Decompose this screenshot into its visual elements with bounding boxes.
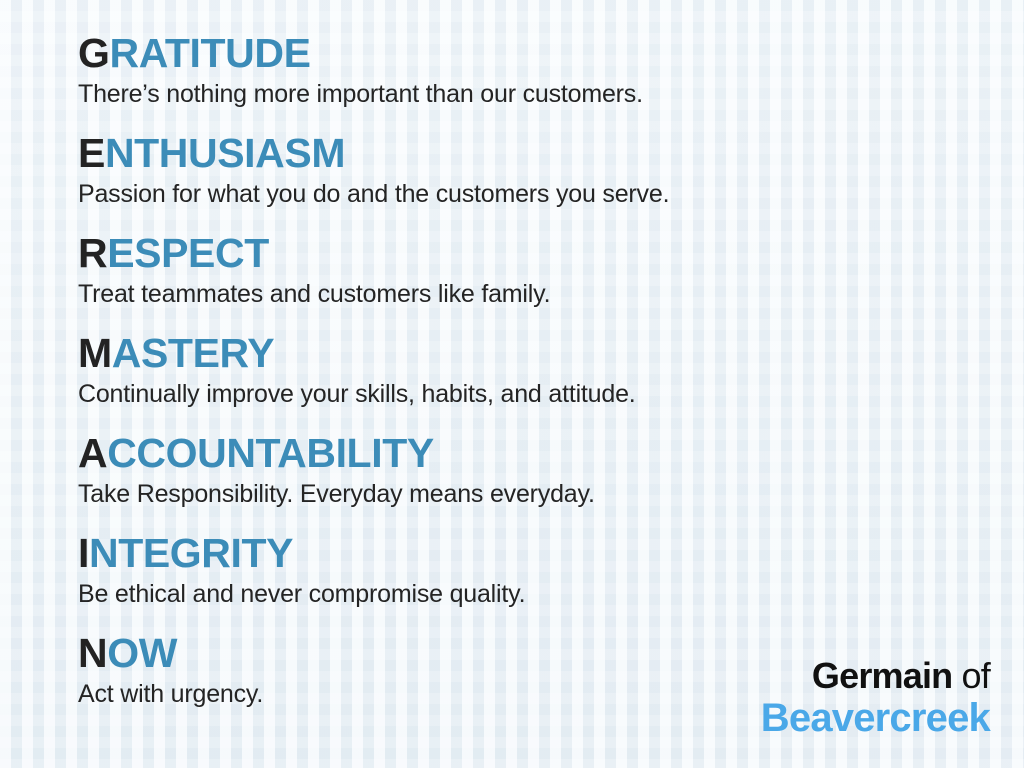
value-block-integrity: INTEGRITY Be ethical and never compromis… [78,530,984,630]
value-initial-letter: M [78,330,112,376]
value-heading-rest: ASTERY [112,330,274,376]
value-heading-gratitude: GRATITUDE [78,30,984,76]
value-block-mastery: MASTERY Continually improve your skills,… [78,330,984,430]
value-heading-rest: NTEGRITY [89,530,293,576]
value-description-enthusiasm: Passion for what you do and the customer… [78,178,984,210]
value-block-enthusiasm: ENTHUSIASM Passion for what you do and t… [78,130,984,230]
brand-logo-connector: of [952,655,990,696]
value-initial-letter: E [78,130,105,176]
core-values-list: GRATITUDE There’s nothing more important… [78,30,984,730]
brand-logo-line-one: Germain of [761,656,990,696]
value-heading-rest: CCOUNTABILITY [107,430,434,476]
value-block-accountability: ACCOUNTABILITY Take Responsibility. Ever… [78,430,984,530]
value-initial-letter: G [78,30,110,76]
value-description-respect: Treat teammates and customers like famil… [78,278,984,310]
value-block-respect: RESPECT Treat teammates and customers li… [78,230,984,330]
value-heading-rest: ESPECT [107,230,269,276]
value-heading-rest: NTHUSIASM [105,130,345,176]
value-initial-letter: N [78,630,107,676]
value-heading-respect: RESPECT [78,230,984,276]
value-initial-letter: R [78,230,107,276]
value-description-integrity: Be ethical and never compromise quality. [78,578,984,610]
value-heading-rest: OW [107,630,177,676]
value-heading-accountability: ACCOUNTABILITY [78,430,984,476]
brand-logo: Germain of Beavercreek [761,656,990,740]
value-description-gratitude: There’s nothing more important than our … [78,78,984,110]
value-heading-integrity: INTEGRITY [78,530,984,576]
brand-logo-location: Beavercreek [761,696,990,740]
value-description-mastery: Continually improve your skills, habits,… [78,378,984,410]
value-initial-letter: A [78,430,107,476]
value-block-gratitude: GRATITUDE There’s nothing more important… [78,30,984,130]
value-heading-enthusiasm: ENTHUSIASM [78,130,984,176]
value-description-accountability: Take Responsibility. Everyday means ever… [78,478,984,510]
value-heading-rest: RATITUDE [110,30,311,76]
core-values-poster: GRATITUDE There’s nothing more important… [0,0,1024,768]
value-heading-mastery: MASTERY [78,330,984,376]
value-initial-letter: I [78,530,89,576]
brand-logo-name: Germain [812,655,952,696]
